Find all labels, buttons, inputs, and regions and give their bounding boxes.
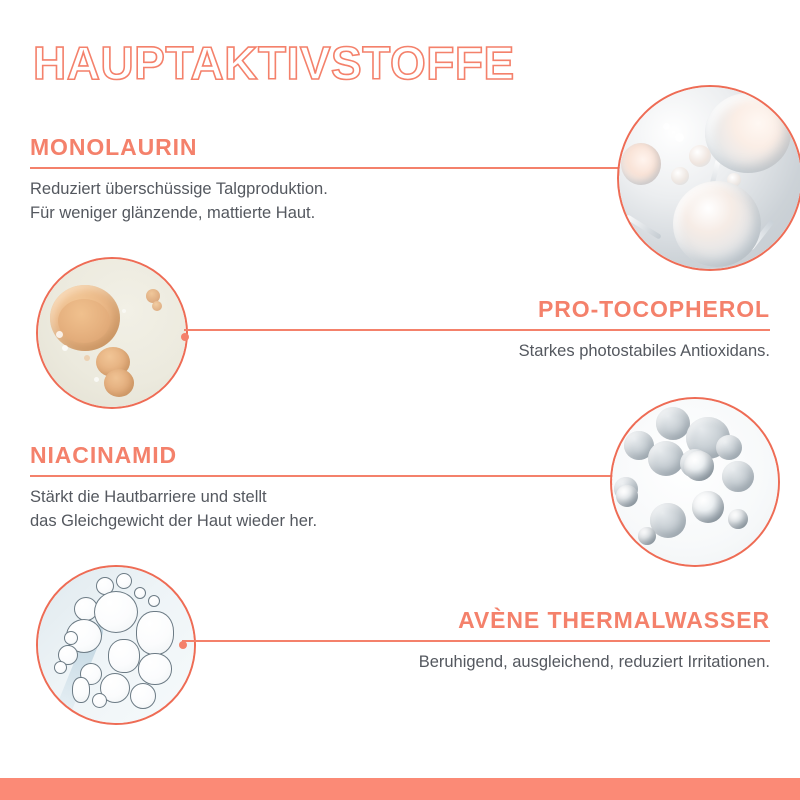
- ingredient-block-monolaurin: MONOLAURIN Reduziert überschüssige Talgp…: [30, 135, 622, 225]
- connector-line: [30, 167, 622, 169]
- ingredient-description: Reduziert überschüssige Talgproduktion. …: [30, 178, 622, 225]
- oil-droplet-icon: [56, 331, 63, 338]
- oil-droplet-icon: [152, 301, 162, 311]
- ingredient-heading: PRO-TOCOPHEROL: [184, 297, 770, 322]
- photo-grey-spheres: [612, 399, 778, 565]
- foam-bubble-icon: [134, 587, 146, 599]
- ingredient-block-niacinamid: NIACINAMID Stärkt die Hautbarriere und s…: [30, 443, 618, 533]
- oil-droplet-icon: [122, 309, 126, 313]
- droplet-icon: [675, 133, 684, 142]
- connector-line: [30, 475, 618, 477]
- foam-bubble-icon: [138, 653, 172, 685]
- oil-droplet-icon: [104, 369, 134, 397]
- photo-molecule-droplets: [619, 87, 800, 269]
- foam-bubble-icon: [54, 661, 67, 674]
- ingredient-block-pro-tocopherol: PRO-TOCOPHEROL Starkes photostabiles Ant…: [184, 297, 770, 364]
- sphere-icon: [656, 407, 690, 440]
- molecule-bond: [625, 214, 662, 239]
- foam-bubble-icon: [136, 611, 174, 655]
- foam-bubble-icon: [64, 631, 78, 645]
- oil-droplet-icon: [84, 355, 90, 361]
- foam-bubble-icon: [72, 677, 90, 703]
- sphere-icon: [728, 509, 748, 529]
- ingredient-image-pro-tocopherol: [36, 257, 188, 409]
- ingredient-description: Starkes photostabiles Antioxidans.: [184, 340, 770, 363]
- sphere-icon: [692, 491, 724, 523]
- oil-droplet-icon: [62, 345, 68, 351]
- ingredient-image-avene-thermalwasser: [36, 565, 196, 725]
- sphere-icon: [722, 461, 754, 492]
- droplet-icon: [673, 181, 761, 267]
- foam-bubble-icon: [148, 595, 160, 607]
- ingredient-description: Beruhigend, ausgleichend, reduziert Irri…: [182, 651, 770, 674]
- connector-line: [184, 329, 770, 331]
- droplet-icon: [705, 93, 791, 173]
- foam-bubble-icon: [94, 591, 138, 633]
- ingredient-description: Stärkt die Hautbarriere und stellt das G…: [30, 486, 618, 533]
- footer-accent-bar: [0, 778, 800, 800]
- photo-amber-oil-droplets: [38, 259, 186, 407]
- foam-bubble-icon: [108, 639, 140, 673]
- droplet-icon: [621, 143, 661, 185]
- connector-line: [182, 640, 770, 642]
- droplet-icon: [689, 145, 711, 167]
- page-title: HAUPTAKTIVSTOFFE: [33, 40, 515, 86]
- oil-droplet-icon: [94, 377, 99, 382]
- ingredient-heading: MONOLAURIN: [30, 135, 622, 160]
- ingredient-block-avene-thermalwasser: AVÈNE THERMALWASSER Beruhigend, ausgleic…: [182, 608, 770, 675]
- oil-droplet-icon: [58, 299, 110, 343]
- sphere-icon: [638, 527, 656, 545]
- ingredient-heading: AVÈNE THERMALWASSER: [182, 608, 770, 633]
- droplet-icon: [671, 167, 689, 185]
- infographic-poster: HAUPTAKTIVSTOFFE MONOLAURIN Reduziert üb…: [0, 0, 800, 800]
- ingredient-image-niacinamid: [610, 397, 780, 567]
- foam-bubble-icon: [92, 693, 107, 708]
- foam-bubble-icon: [116, 573, 132, 589]
- droplet-icon: [663, 123, 670, 130]
- ingredient-heading: NIACINAMID: [30, 443, 618, 468]
- sphere-icon: [616, 485, 638, 507]
- sphere-icon: [648, 441, 684, 476]
- ingredient-image-monolaurin: [617, 85, 800, 271]
- foam-bubble-icon: [130, 683, 156, 709]
- photo-foam-bubbles: [38, 567, 194, 723]
- sphere-icon: [716, 435, 742, 460]
- sphere-icon: [684, 451, 714, 481]
